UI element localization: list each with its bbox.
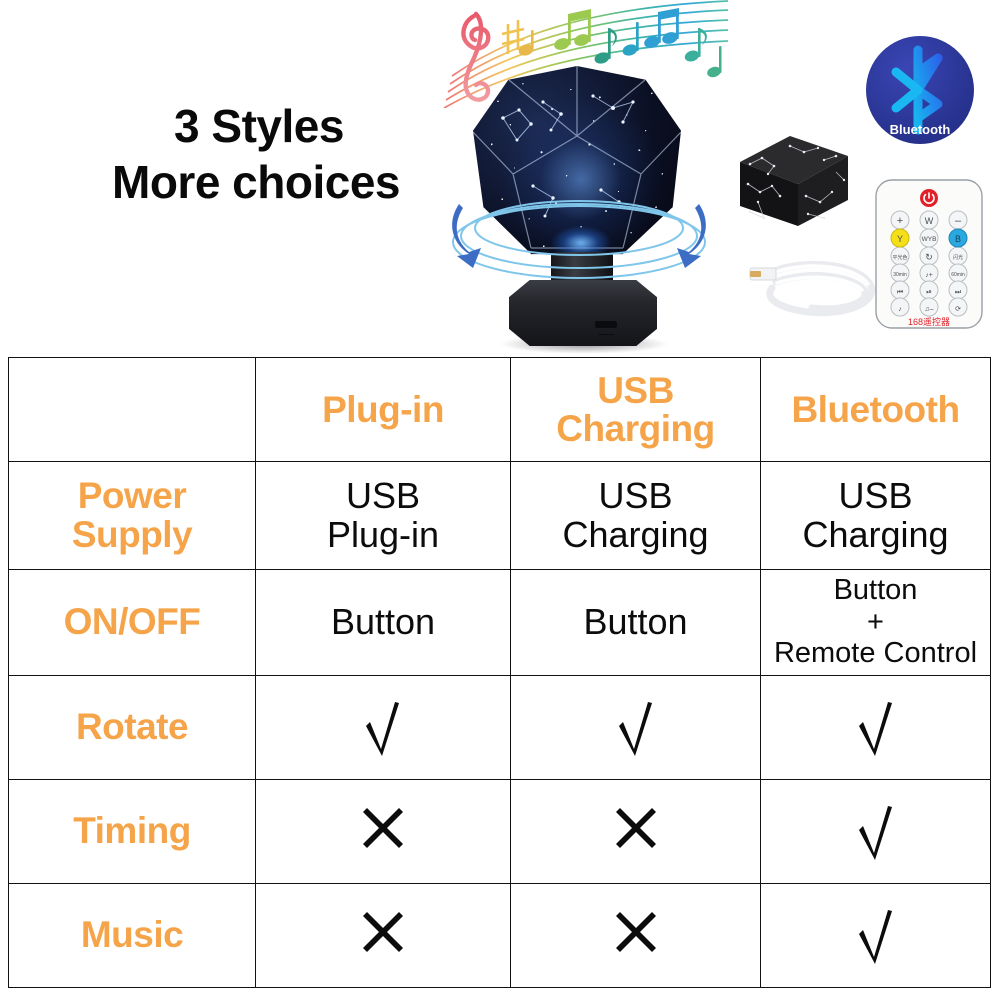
rotation-arrows [443,178,715,288]
svg-text:WYB: WYB [922,236,937,243]
svg-text:平光色: 平光色 [892,254,907,261]
row-label-music: Music [9,884,256,988]
cross-icon [360,805,406,851]
check-icon [362,699,404,757]
usb-charging-cable [742,242,882,328]
svg-text:W: W [925,216,934,226]
feature-comparison-table: Plug-in USB Charging Bluetooth Power Sup… [8,357,991,988]
svg-text:⏭: ⏭ [955,289,962,296]
svg-text:闪光: 闪光 [953,254,963,261]
check-icon [855,803,897,861]
cell-timing-usb-charging [511,780,761,884]
check-icon [855,907,897,965]
header-cell-empty [9,358,256,462]
cell-music-plug-in [256,884,511,988]
header-cell-bluetooth: Bluetooth [761,358,991,462]
table-row-rotate: Rotate [9,676,991,780]
table-row-on-off: ON/OFF Button Button Button + Remote Con… [9,570,991,676]
cell-rotate-bluetooth [761,676,991,780]
constellation-gift-box [728,122,854,238]
row-label-power-supply: Power Supply [9,462,256,570]
bluetooth-label: Bluetooth [890,122,951,137]
row-label-timing: Timing [9,780,256,884]
svg-text:⏯: ⏯ [926,289,932,296]
svg-text:⏮: ⏮ [897,289,903,296]
svg-text:♪: ♪ [898,306,902,313]
lamp-base [509,280,657,346]
header-cell-plug-in: Plug-in [256,358,511,462]
cell-rotate-plug-in [256,676,511,780]
cell-on-off-plug-in: Button [256,570,511,676]
headline-line-2: More choices [46,154,466,210]
header-cell-usb-charging: USB Charging [511,358,761,462]
check-icon [855,699,897,757]
cell-power-supply-plug-in: USB Plug-in [256,462,511,570]
cross-icon [613,805,659,851]
cross-icon [613,909,659,955]
cell-power-supply-bluetooth: USB Charging [761,462,991,570]
svg-text:Y: Y [897,234,903,244]
headline-line-1: 3 Styles [46,98,466,154]
cell-power-supply-usb-charging: USB Charging [511,462,761,570]
cross-icon [360,909,406,955]
table-header-row: Plug-in USB Charging Bluetooth [9,358,991,462]
cell-music-bluetooth [761,884,991,988]
svg-text:–: – [955,215,962,227]
svg-text:♫–: ♫– [924,306,933,313]
table-row-timing: Timing [9,780,991,884]
table-row-music: Music [9,884,991,988]
cell-rotate-usb-charging [511,676,761,780]
row-label-on-off: ON/OFF [9,570,256,676]
row-label-rotate: Rotate [9,676,256,780]
svg-text:⟳: ⟳ [955,306,961,313]
cell-on-off-usb-charging: Button [511,570,761,676]
cell-timing-bluetooth [761,780,991,884]
svg-text:+: + [897,215,903,227]
table-row-power-supply: Power Supply USB Plug-in USB Charging US… [9,462,991,570]
svg-text:B: B [955,234,961,244]
cell-music-usb-charging [511,884,761,988]
product-comparison-infographic: + W – Y WYB B 平光色 ↻ 闪光 30min ♪+ 60min ⏮ … [0,0,1000,1000]
remote-caption: 168遥控器 [908,316,950,327]
cell-on-off-bluetooth: Button + Remote Control [761,570,991,676]
cell-timing-plug-in [256,780,511,884]
svg-text:↻: ↻ [925,252,933,262]
svg-text:30min: 30min [893,272,907,278]
svg-text:♪+: ♪+ [925,272,933,279]
page-title: 3 Styles More choices [46,98,466,210]
check-icon [615,699,657,757]
remote-control: + W – Y WYB B 平光色 ↻ 闪光 30min ♪+ 60min ⏮ … [868,176,990,332]
bluetooth-badge: Bluetooth [862,32,982,150]
svg-text:60min: 60min [951,272,965,278]
